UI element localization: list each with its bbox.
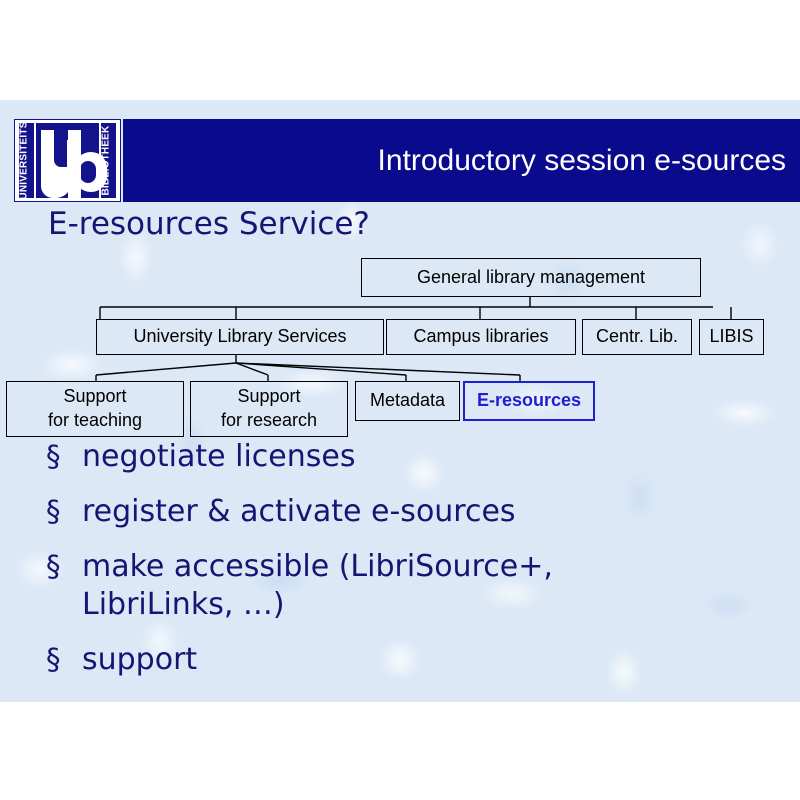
org-box-university-library-services[interactable]: University Library Services xyxy=(96,319,384,355)
org-box-support-for-teaching[interactable]: Supportfor teaching xyxy=(6,381,184,437)
bullet-item: §support xyxy=(46,641,746,679)
bullet-text: support xyxy=(82,641,746,679)
bullet-marker-icon: § xyxy=(46,438,82,475)
org-box-e-resources[interactable]: E-resources xyxy=(463,381,595,421)
org-box-campus-libraries[interactable]: Campus libraries xyxy=(386,319,576,355)
slide-header: UNIVERSITEITS BIBLIOTHEEK Introductory s… xyxy=(0,119,800,202)
org-box-label-line2: for teaching xyxy=(48,409,142,433)
org-box-label: University Library Services xyxy=(133,325,346,349)
bullet-marker-icon: § xyxy=(46,548,82,585)
org-box-label: General library management xyxy=(417,266,645,290)
bullet-list: §negotiate licenses§register & activate … xyxy=(46,438,746,696)
bullet-text-continuation: LibriLinks, …) xyxy=(82,586,746,624)
org-box-centr-lib[interactable]: Centr. Lib. xyxy=(582,319,692,355)
bullet-text: make accessible (LibriSource+,LibriLinks… xyxy=(82,548,746,624)
header-title-bar: Introductory session e-sources xyxy=(123,119,800,202)
bullet-marker-icon: § xyxy=(46,493,82,530)
bullet-item: §negotiate licenses xyxy=(46,438,746,476)
org-box-libis[interactable]: LIBIS xyxy=(699,319,764,355)
org-box-label: Metadata xyxy=(370,389,445,413)
bullet-text: register & activate e-sources xyxy=(82,493,746,531)
org-box-label: Centr. Lib. xyxy=(596,325,678,349)
svg-text:UNIVERSITEITS: UNIVERSITEITS xyxy=(19,121,30,199)
ub-logo-icon: UNIVERSITEITS BIBLIOTHEEK xyxy=(15,120,120,201)
bullet-item: §register & activate e-sources xyxy=(46,493,746,531)
bullet-item: §make accessible (LibriSource+,LibriLink… xyxy=(46,548,746,624)
slide-heading: E-resources Service? xyxy=(48,206,370,242)
bullet-text: negotiate licenses xyxy=(82,438,746,476)
org-box-label-line2: for research xyxy=(221,409,317,433)
org-chart: General library management University Li… xyxy=(0,250,800,430)
org-box-metadata[interactable]: Metadata xyxy=(355,381,460,421)
org-box-support-for-research[interactable]: Supportfor research xyxy=(190,381,348,437)
org-box-general-library-management[interactable]: General library management xyxy=(361,258,701,297)
presentation-slide: UNIVERSITEITS BIBLIOTHEEK Introductory s… xyxy=(0,100,800,702)
org-box-label: E-resources xyxy=(477,389,581,413)
bullet-marker-icon: § xyxy=(46,641,82,678)
org-box-label: LIBIS xyxy=(709,325,753,349)
org-box-label: Support xyxy=(63,385,126,409)
org-box-label: Campus libraries xyxy=(413,325,548,349)
org-box-label: Support xyxy=(237,385,300,409)
page-title: Introductory session e-sources xyxy=(377,144,786,178)
university-library-logo: UNIVERSITEITS BIBLIOTHEEK xyxy=(14,119,121,202)
